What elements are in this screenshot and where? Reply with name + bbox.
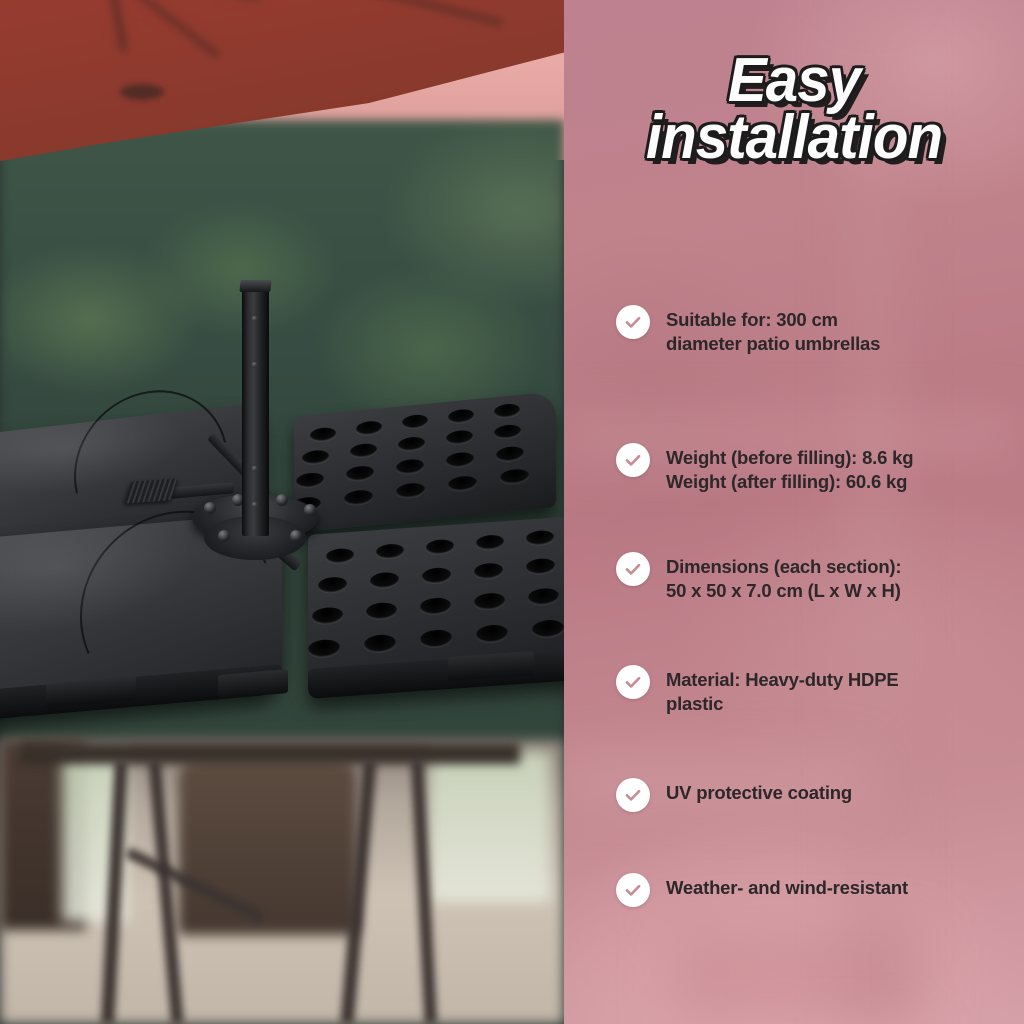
flange-bolt-1 bbox=[204, 502, 216, 514]
umbrella-base-product bbox=[0, 280, 564, 750]
feature-item-weight: Weight (before filling): 8.6 kg Weight (… bbox=[616, 443, 913, 494]
feature-item-material: Material: Heavy-duty HDPE plastic bbox=[616, 665, 898, 716]
feature-list-panel: Easy installation Suitable for: 300 cm d… bbox=[564, 0, 1024, 1024]
post-screw-4 bbox=[252, 502, 257, 507]
feature-text: Suitable for: 300 cm diameter patio umbr… bbox=[666, 305, 880, 356]
feature-text: Material: Heavy-duty HDPE plastic bbox=[666, 665, 898, 716]
headline-line-1: Easy bbox=[578, 52, 1010, 109]
check-circle-icon bbox=[616, 778, 650, 812]
headline-line-2: installation bbox=[578, 109, 1010, 166]
feature-text: Dimensions (each section): 50 x 50 x 7.0… bbox=[666, 552, 901, 603]
post-screw-3 bbox=[252, 466, 257, 471]
umbrella-hub bbox=[120, 84, 164, 100]
patio-window-right bbox=[430, 752, 550, 902]
umbrella-post bbox=[242, 286, 269, 536]
umbrella-post-cap bbox=[239, 280, 271, 292]
check-circle-icon bbox=[616, 443, 650, 477]
check-circle-icon bbox=[616, 305, 650, 339]
feature-text: Weather- and wind-resistant bbox=[666, 873, 908, 900]
patio-chair bbox=[178, 760, 358, 935]
check-circle-icon bbox=[616, 665, 650, 699]
feature-item-dimensions: Dimensions (each section): 50 x 50 x 7.0… bbox=[616, 552, 901, 603]
flange-bolt-4 bbox=[304, 504, 316, 516]
product-photo-panel bbox=[0, 0, 564, 1024]
feature-text: Weight (before filling): 8.6 kg Weight (… bbox=[666, 443, 913, 494]
weight-plate-rear-right bbox=[294, 391, 556, 532]
base-foot-center bbox=[218, 669, 288, 699]
flange-bolt-6 bbox=[290, 530, 302, 542]
check-circle-icon bbox=[616, 873, 650, 907]
feature-text: UV protective coating bbox=[666, 778, 852, 805]
background-blur-shape-4 bbox=[674, 930, 924, 1024]
check-circle-icon bbox=[616, 552, 650, 586]
product-feature-image: Easy installation Suitable for: 300 cm d… bbox=[0, 0, 1024, 1024]
flange-bolt-5 bbox=[218, 530, 230, 542]
feature-item-suitable-for: Suitable for: 300 cm diameter patio umbr… bbox=[616, 305, 880, 356]
post-screw-2 bbox=[252, 362, 257, 367]
post-screw-1 bbox=[252, 316, 257, 321]
feature-item-uv-coating: UV protective coating bbox=[616, 778, 852, 812]
flange-bolt-3 bbox=[276, 494, 288, 506]
page-title: Easy installation bbox=[578, 52, 1010, 166]
feature-item-weather-resistant: Weather- and wind-resistant bbox=[616, 873, 908, 907]
